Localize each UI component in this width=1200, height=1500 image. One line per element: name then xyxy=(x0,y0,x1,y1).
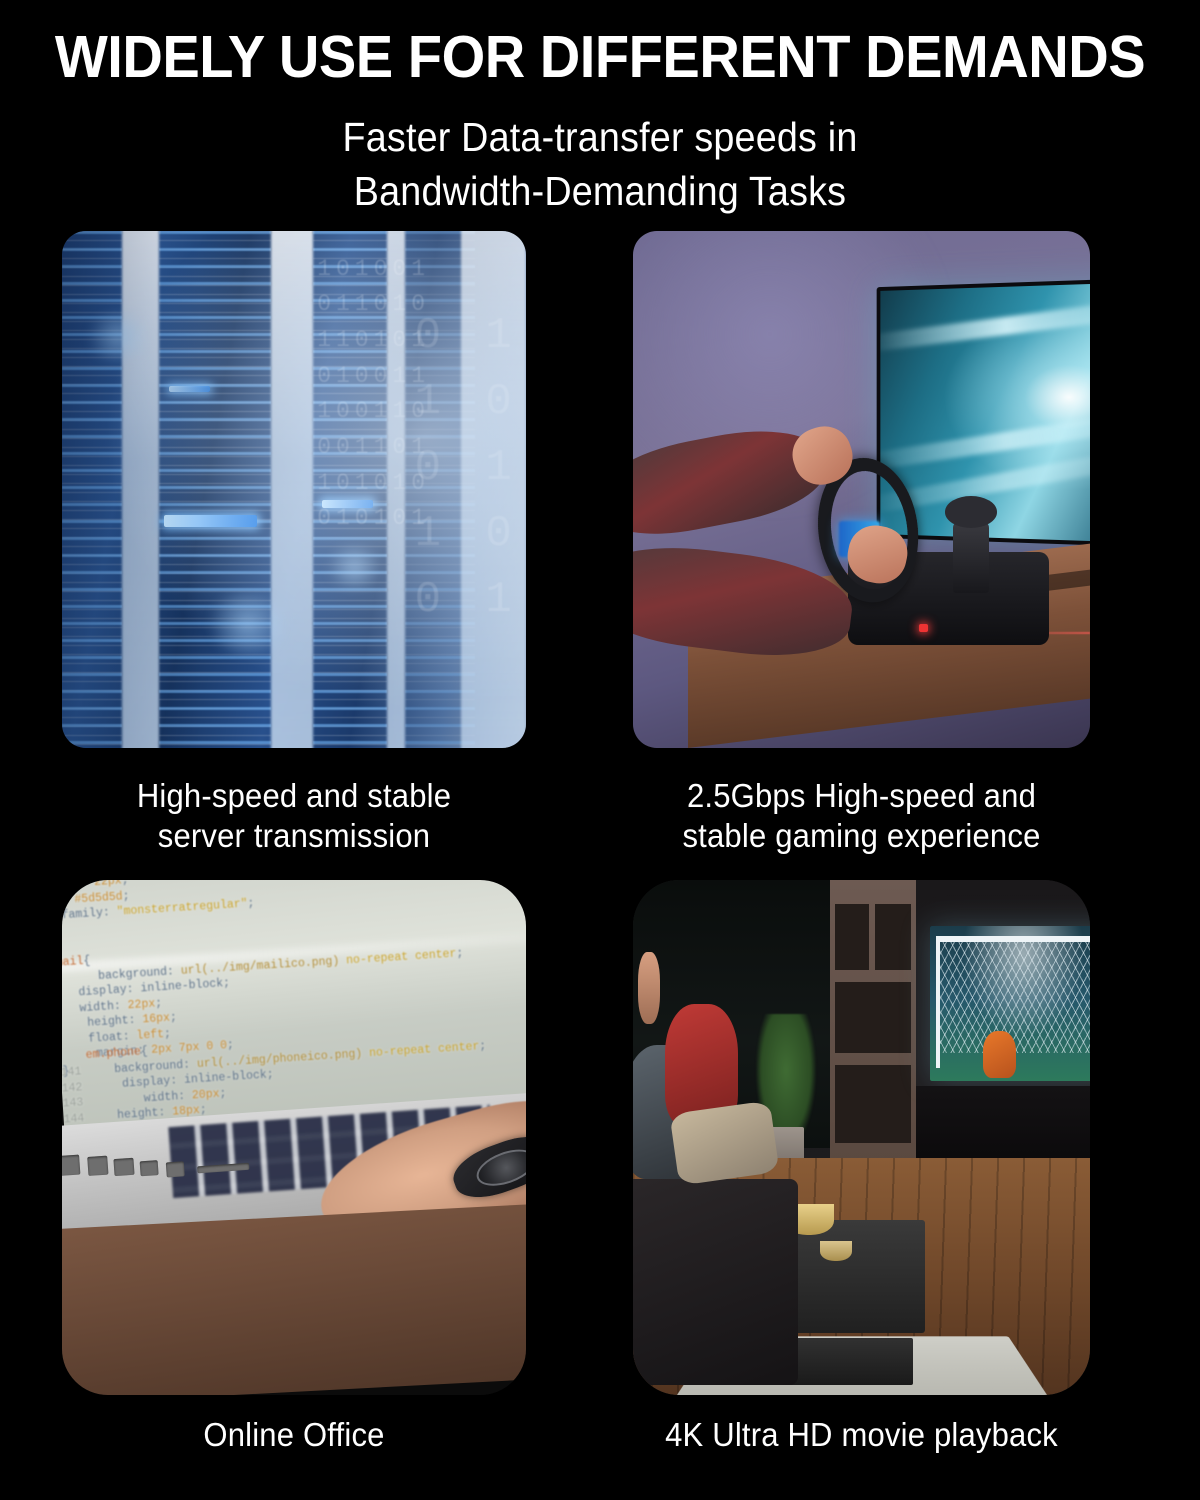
subtitle-line-1: Faster Data-transfer speeds in xyxy=(48,110,1152,164)
laptop-port-audio xyxy=(166,1162,185,1178)
panel-movie-playback xyxy=(633,880,1090,1395)
status-led xyxy=(919,624,929,632)
sofa xyxy=(633,1179,798,1385)
laptop-port-thunderbolt xyxy=(140,1160,159,1176)
caption-gaming: 2.5Gbps High-speed and stable gaming exp… xyxy=(628,776,1095,856)
fan-legs xyxy=(670,1100,780,1185)
snack-bowl-right xyxy=(820,1241,852,1262)
caption-line-1: High-speed and stable xyxy=(57,776,531,816)
goal-crossbar xyxy=(936,936,1090,942)
living-room-photo xyxy=(633,880,1090,1395)
server-room-haze xyxy=(62,231,526,748)
gaming-photo xyxy=(633,231,1090,748)
caption-line-2: stable gaming experience xyxy=(628,816,1095,856)
goal-post-left xyxy=(936,936,941,1069)
fan-raised-arm xyxy=(638,952,661,1024)
goal-net xyxy=(938,939,1090,1053)
online-office-photo: t-size: 22px; lor: #5d5d5d; nt-family: "… xyxy=(62,880,526,1395)
subtitle-line-2: Bandwidth-Demanding Tasks xyxy=(48,164,1152,218)
laptop-port-ethernet xyxy=(87,1156,109,1176)
page-subtitle: Faster Data-transfer speeds in Bandwidth… xyxy=(48,110,1152,218)
panel-server-transmission: 101001 011010 110101 010011 100110 00110… xyxy=(62,231,526,748)
laptop-port-firewire xyxy=(113,1158,135,1176)
caption-line-2: server transmission xyxy=(57,816,531,856)
gear-shifter xyxy=(953,521,990,593)
laptop-port-usb xyxy=(62,1154,81,1176)
code-block-top: t-size: 22px; lor: #5d5d5d; nt-family: "… xyxy=(62,880,255,925)
server-room-photo: 101001 011010 110101 010011 100110 00110… xyxy=(62,231,526,748)
caption-line-1: 2.5Gbps High-speed and xyxy=(628,776,1095,816)
caption-movie-playback: 4K Ultra HD movie playback xyxy=(628,1415,1095,1455)
wooden-desk xyxy=(62,1203,526,1395)
goalkeeper xyxy=(983,1031,1017,1077)
panel-gaming xyxy=(633,231,1090,748)
caption-server-transmission: High-speed and stable server transmissio… xyxy=(57,776,531,856)
shelving-unit xyxy=(830,880,917,1179)
soccer-broadcast xyxy=(930,926,1090,1081)
caption-online-office: Online Office xyxy=(57,1415,531,1455)
panel-online-office: t-size: 22px; lor: #5d5d5d; nt-family: "… xyxy=(62,880,526,1395)
page-title: WIDELY USE FOR DIFFERENT DEMANDS xyxy=(30,26,1170,88)
living-room-tv xyxy=(930,926,1090,1081)
